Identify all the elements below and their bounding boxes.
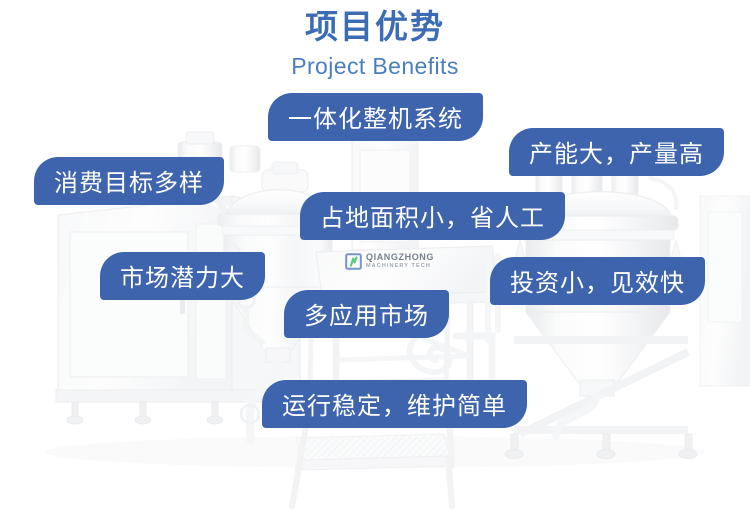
benefit-badge-multi-application[interactable]: 多应用市场 [284, 290, 449, 338]
logo-company-name: QIANGZHONG [366, 253, 434, 262]
logo-mark-icon [345, 253, 362, 270]
benefit-badge-diverse-targets[interactable]: 消费目标多样 [34, 157, 224, 205]
benefit-badge-label: 投资小，见效快 [510, 263, 685, 298]
logo-tagline: MACHINERY TECH [366, 264, 434, 270]
page-heading: 项目优势 Project Benefits [0, 6, 750, 82]
qiangzhong-logo: QIANGZHONG MACHINERY TECH [345, 253, 434, 270]
benefit-badge-label: 多应用市场 [304, 296, 429, 331]
benefit-badge-label: 市场潜力大 [120, 258, 245, 293]
benefit-badge-label: 运行稳定，维护简单 [282, 386, 507, 421]
benefit-badge-label: 消费目标多样 [54, 163, 204, 198]
right-edge-equipment [700, 196, 750, 386]
benefit-badge-integrated-system[interactable]: 一体化整机系统 [268, 93, 483, 141]
page-title: 项目优势 [0, 6, 750, 48]
project-benefits-banner: QIANGZHONG MACHINERY TECH 项目优势 Project B… [0, 0, 750, 513]
benefit-badge-label: 产能大，产量高 [529, 134, 704, 169]
benefit-badge-low-investment[interactable]: 投资小，见效快 [490, 257, 705, 305]
benefit-badge-label: 一体化整机系统 [288, 99, 463, 134]
logo-text-block: QIANGZHONG MACHINERY TECH [366, 253, 434, 270]
benefit-badge-high-capacity[interactable]: 产能大，产量高 [509, 128, 724, 176]
page-subtitle: Project Benefits [0, 50, 750, 82]
benefit-badge-label: 占地面积小，省人工 [320, 198, 545, 233]
benefit-badge-stable-operation[interactable]: 运行稳定，维护简单 [262, 380, 527, 428]
benefit-badge-small-footprint[interactable]: 占地面积小，省人工 [300, 192, 565, 240]
benefit-badge-market-potential[interactable]: 市场潜力大 [100, 252, 265, 300]
